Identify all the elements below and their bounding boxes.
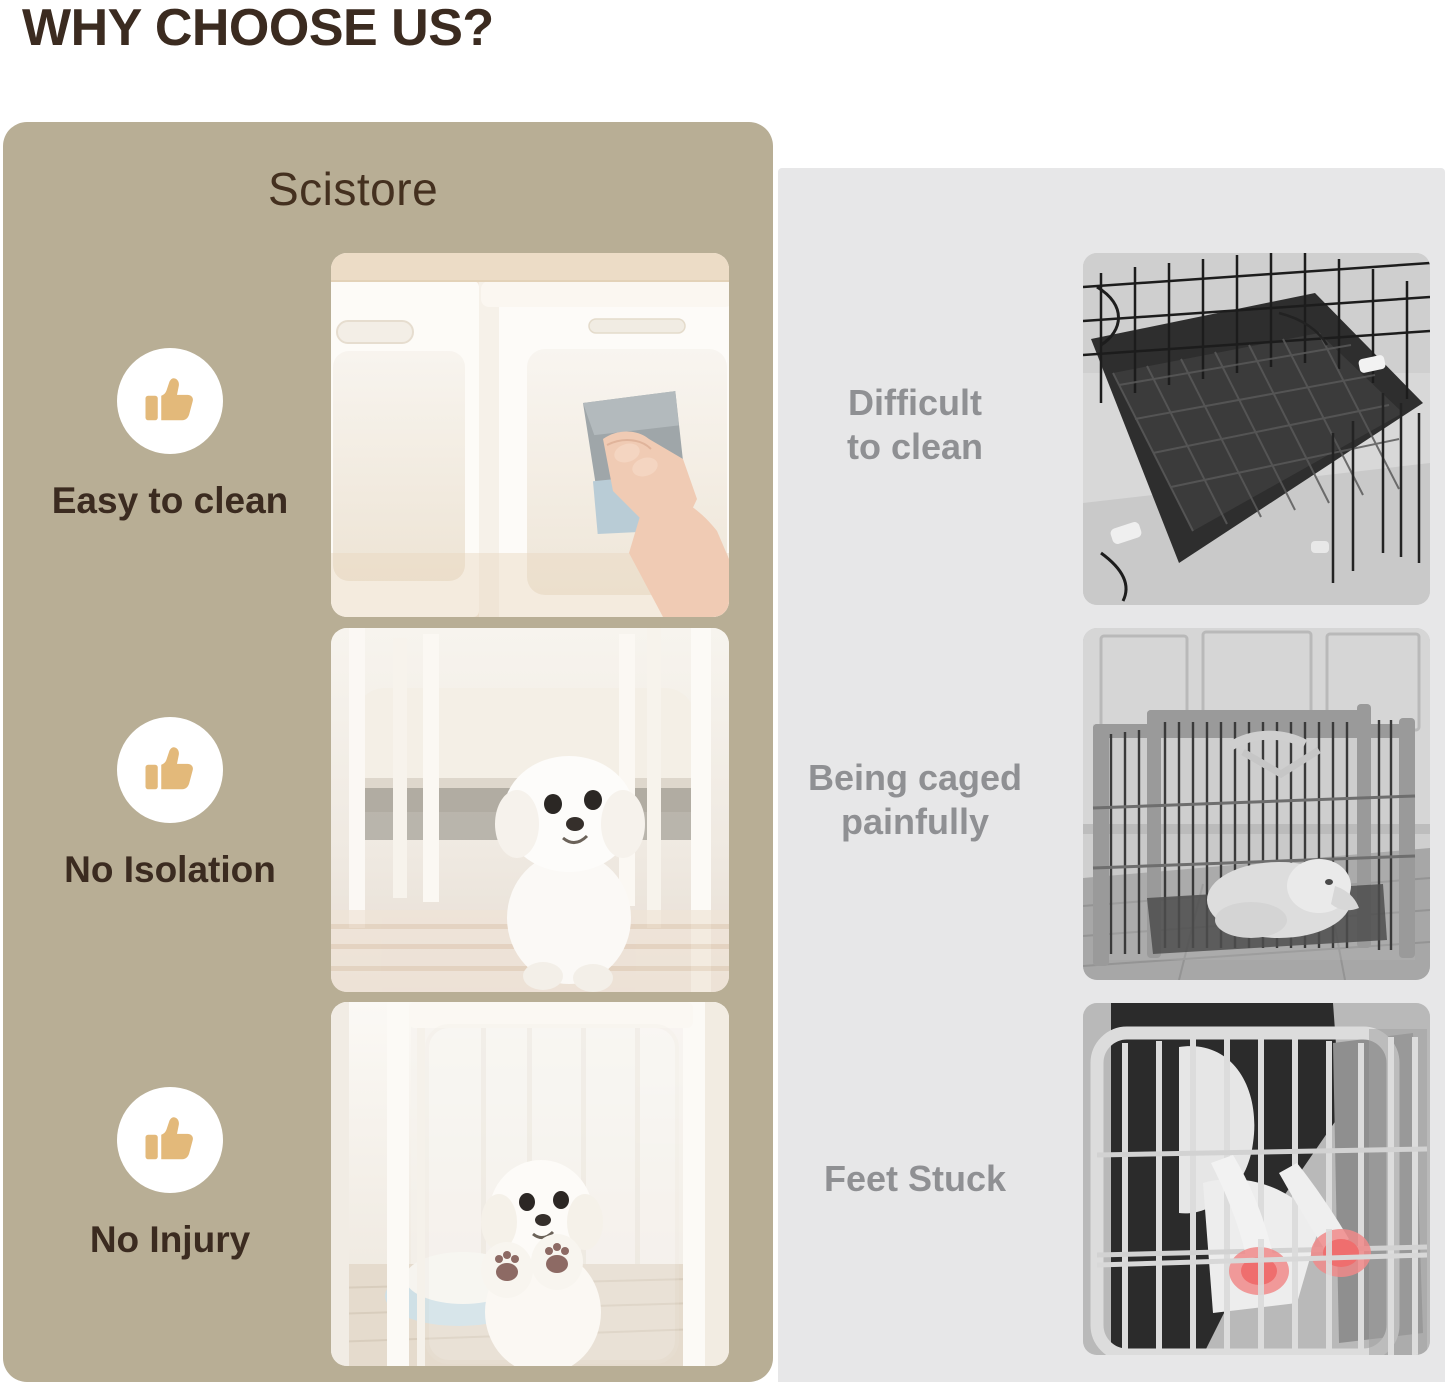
feature-label: Easy to clean — [14, 480, 326, 521]
infographic-root: WHY CHOOSE US? Scistore Easy to clean No… — [0, 0, 1445, 1382]
icon-circle — [117, 348, 223, 454]
feature-block-no-isolation: No Isolation — [14, 717, 326, 890]
bad-photo-being-caged-painfully — [1083, 628, 1430, 980]
good-photo-no-injury — [331, 1002, 729, 1366]
thumbs-up-icon — [142, 1112, 198, 1168]
good-photo-no-isolation — [331, 628, 729, 992]
bad-label-feet-stuck: Feet Stuck — [760, 1157, 1070, 1201]
bad-label-line: painfully — [760, 800, 1070, 844]
bad-photo-difficult-to-clean — [1083, 253, 1430, 605]
bad-label-line: Difficult — [760, 381, 1070, 425]
bad-label-line: to clean — [760, 425, 1070, 469]
bad-label-line: Feet Stuck — [760, 1157, 1070, 1201]
icon-circle — [117, 717, 223, 823]
feature-block-no-injury: No Injury — [14, 1087, 326, 1260]
feature-label: No Isolation — [14, 849, 326, 890]
feature-block-easy-to-clean: Easy to clean — [14, 348, 326, 521]
bad-label-difficult-to-clean: Difficult to clean — [760, 381, 1070, 469]
bad-label-being-caged-painfully: Being caged painfully — [760, 756, 1070, 844]
bad-label-line: Being caged — [760, 756, 1070, 800]
good-photo-easy-to-clean — [331, 253, 729, 617]
bad-photo-feet-stuck — [1083, 1003, 1430, 1355]
page-title: WHY CHOOSE US? — [22, 2, 494, 54]
thumbs-up-icon — [142, 742, 198, 798]
icon-circle — [117, 1087, 223, 1193]
feature-label: No Injury — [14, 1219, 326, 1260]
brand-name: Scistore — [268, 162, 438, 216]
thumbs-up-icon — [142, 373, 198, 429]
